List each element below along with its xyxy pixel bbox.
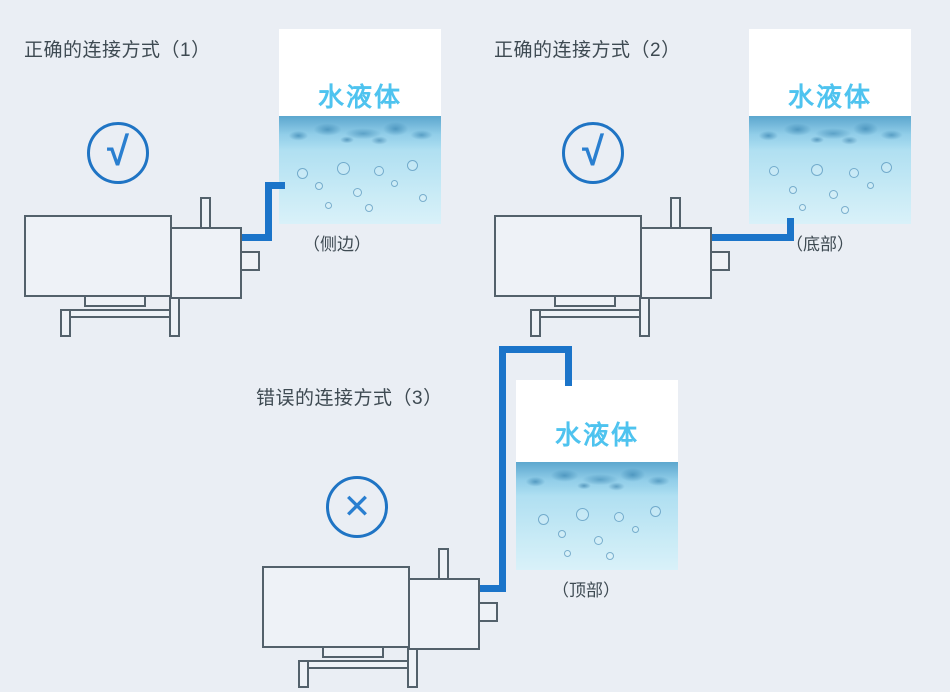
bubble [881,162,892,173]
bubble [789,186,797,194]
bubble [353,188,362,197]
bubble [829,190,838,199]
bubble [841,206,849,214]
pump-base-leg [530,309,541,337]
case-1-water-body [279,116,441,224]
case-3-water-body [516,462,678,570]
case-3-pipe-horizontal-upper [499,346,572,353]
pump-terminal-box [554,295,616,307]
pump-base-rail [530,309,650,318]
case-1-water-label: 水液体 [279,77,441,114]
pump-motor-body [24,215,172,297]
bubble [558,530,566,538]
pump-top-pipe [200,197,211,229]
bubble [325,202,332,209]
pump-outlet-nozzle [710,251,730,271]
pump-base-column [407,646,418,688]
bubble [297,168,308,179]
pump-base-column [169,295,180,337]
cross-glyph: ✕ [343,490,372,524]
pump-base-leg [298,660,309,688]
check-glyph: √ [107,132,129,172]
case-3-panel-caption: （顶部） [552,576,620,601]
bubble [849,168,859,178]
case-3-water-label: 水液体 [516,415,678,452]
case-3-pipe-vertical-riser [499,346,506,592]
pump-base-column [639,295,650,337]
case-1-water-panel: 水液体 [279,29,441,224]
pump-head [640,227,712,299]
case-2-check-badge: √ [562,122,624,184]
bubble [315,182,323,190]
bubble [374,166,384,176]
pump-base-rail [60,309,180,318]
pump-terminal-box [322,646,384,658]
case-3-pipe-vertical-downspout [565,346,572,386]
case-1-pump-assembly [24,197,254,317]
case-2-water-label: 水液体 [749,77,911,114]
pump-base-rail [298,660,418,669]
bubble [650,506,661,517]
bubble [594,536,603,545]
pump-head [170,227,242,299]
diagram-canvas: 正确的连接方式（1） √ 水液体 （侧边） [0,0,950,692]
bubble [606,552,614,560]
pump-motor-body [494,215,642,297]
case-1-pipe-vertical [265,182,272,238]
bubble [576,508,589,521]
case-1-title: 正确的连接方式（1） [24,35,211,62]
pump-outlet-nozzle [240,251,260,271]
bubble [799,204,806,211]
bubble [811,164,823,176]
bubble [632,526,639,533]
bubble [614,512,624,522]
bubble [337,162,350,175]
bubble [391,180,398,187]
bubble [867,182,874,189]
case-1-panel-caption: （侧边） [303,230,371,255]
case-2-water-panel: 水液体 [749,29,911,224]
case-3-pump-assembly [262,548,492,668]
bubble [564,550,571,557]
pump-top-pipe [670,197,681,229]
water-surface [516,462,678,496]
bubble [538,514,549,525]
case-1-check-badge: √ [87,122,149,184]
case-2-title: 正确的连接方式（2） [494,35,681,62]
case-2-pipe-vertical [787,218,794,238]
water-surface [279,116,441,150]
pump-head [408,578,480,650]
pump-base-leg [60,309,71,337]
case-2-water-body [749,116,911,224]
pump-terminal-box [84,295,146,307]
bubble [419,194,427,202]
pump-top-pipe [438,548,449,580]
water-surface [749,116,911,150]
pump-outlet-nozzle [478,602,498,622]
check-glyph: √ [582,132,604,172]
case-2-pump-assembly [494,197,724,317]
case-3-title: 错误的连接方式（3） [256,383,443,410]
case-3-cross-badge: ✕ [326,476,388,538]
bubble [365,204,373,212]
bubble [407,160,418,171]
case-3-water-panel: 水液体 [516,380,678,570]
pump-motor-body [262,566,410,648]
bubble [769,166,779,176]
case-1-pipe-horizontal-upper [265,182,285,189]
case-2-panel-caption: （底部） [786,230,854,255]
